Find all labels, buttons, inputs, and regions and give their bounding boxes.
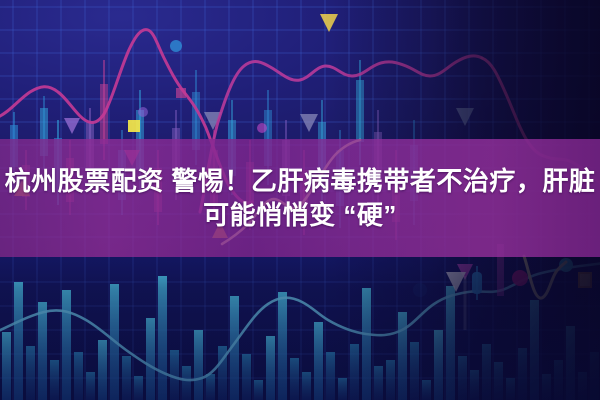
title-line-2: 可能悄悄变 “硬” — [203, 198, 397, 232]
stock-banner-canvas: 杭州股票配资 警惕！乙肝病毒携带者不治疗，肝脏 可能悄悄变 “硬” — [0, 0, 600, 400]
title-line-1: 杭州股票配资 警惕！乙肝病毒携带者不治疗，肝脏 — [5, 164, 596, 198]
banner-title: 杭州股票配资 警惕！乙肝病毒携带者不治疗，肝脏 可能悄悄变 “硬” — [0, 139, 600, 257]
